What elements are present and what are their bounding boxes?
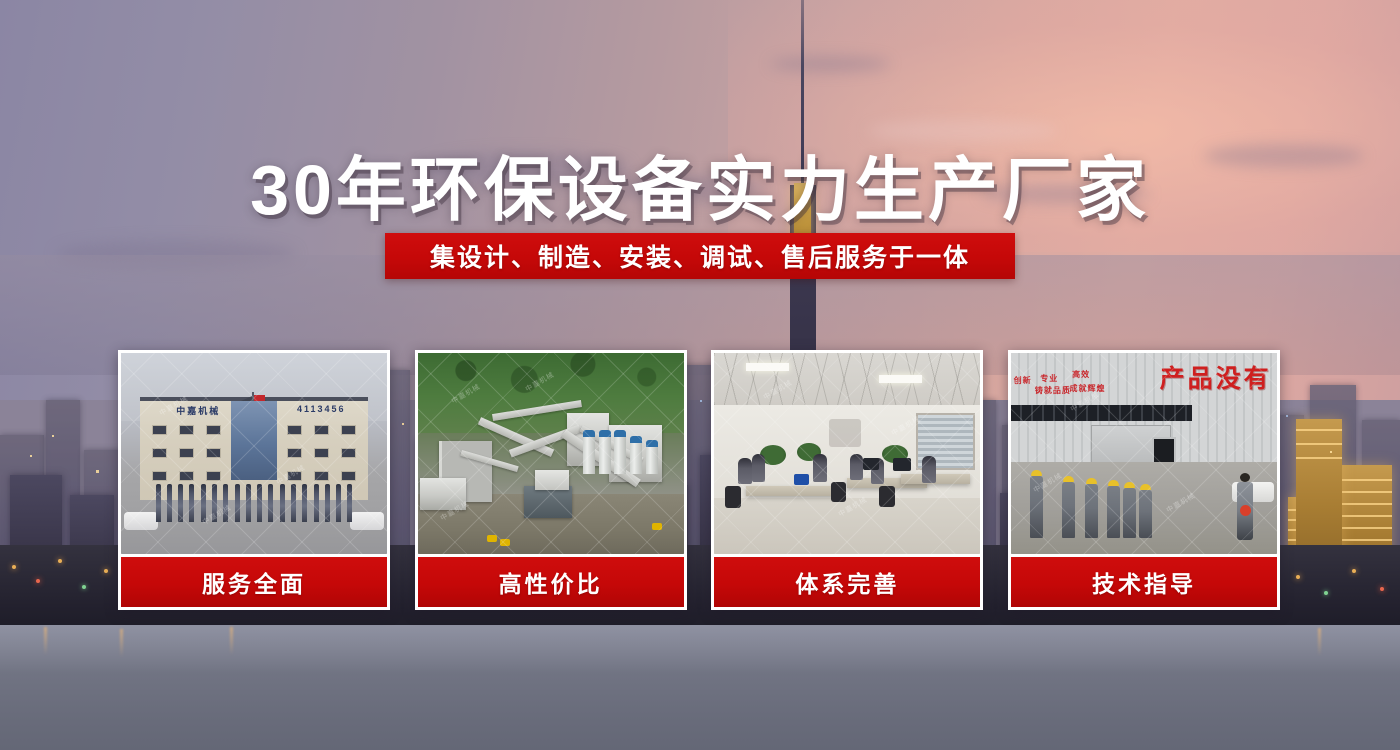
feature-card-system[interactable]: 中嘉机械 中嘉机械 中嘉机械 体系完善 — [711, 350, 983, 610]
subtitle-text: 集设计、制造、安装、调试、售后服务于一体 — [430, 238, 970, 274]
card-label-bar: 体系完善 — [714, 557, 980, 607]
promo-banner: 30年环保设备实力生产厂家 集设计、制造、安装、调试、售后服务于一体 中嘉机械 … — [0, 0, 1400, 750]
card-label-text: 体系完善 — [795, 565, 899, 599]
card-photo-office: 中嘉机械 中嘉机械 中嘉机械 — [714, 353, 980, 554]
instructor-figure — [1237, 473, 1253, 540]
card-label-text: 技术指导 — [1092, 565, 1196, 599]
factory-wall-text: 产品没有 — [1160, 359, 1272, 395]
feature-card-service[interactable]: 中嘉机械 4113456 — [118, 350, 390, 610]
card-photo-plant-aerial: 中嘉机械 中嘉机械 中嘉机械 — [418, 353, 684, 554]
card-label-bar: 技术指导 — [1011, 557, 1277, 607]
card-label-bar: 高性价比 — [418, 557, 684, 607]
card-label-bar: 服务全面 — [121, 557, 387, 607]
subtitle-bar: 集设计、制造、安装、调试、售后服务于一体 — [385, 233, 1015, 279]
card-photo-building: 中嘉机械 4113456 — [121, 353, 387, 554]
wall-decal — [829, 419, 861, 447]
feature-card-value[interactable]: 中嘉机械 中嘉机械 中嘉机械 高性价比 — [415, 350, 687, 610]
card-label-text: 高性价比 — [499, 565, 603, 599]
card-photo-factory-workers: 产品没有 创新 专业 高效 铸就品质 成就辉煌 — [1011, 353, 1277, 554]
card-label-text: 服务全面 — [202, 565, 306, 599]
page-title: 30年环保设备实力生产厂家 — [0, 134, 1400, 235]
building-phone-text: 4113456 — [297, 404, 346, 414]
feature-card-guidance[interactable]: 产品没有 创新 专业 高效 铸就品质 成就辉煌 — [1008, 350, 1280, 610]
feature-card-row: 中嘉机械 4113456 — [118, 350, 1280, 610]
